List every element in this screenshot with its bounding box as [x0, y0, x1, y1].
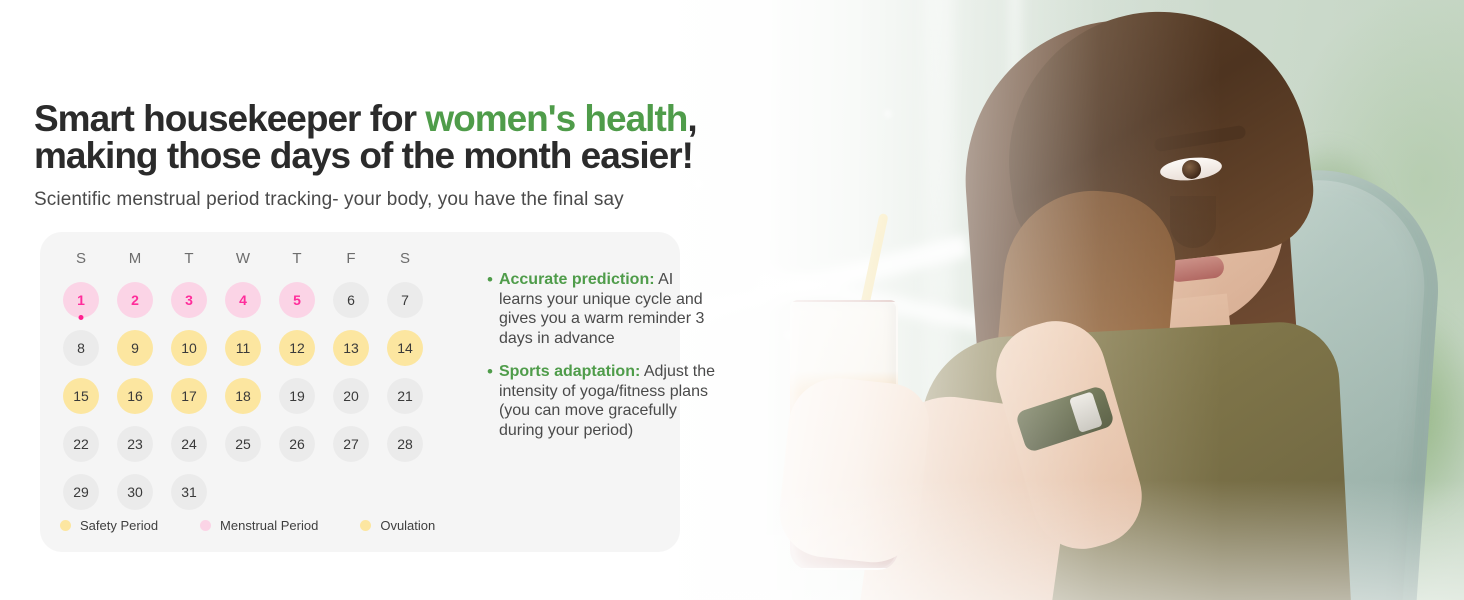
calendar-day-7[interactable]: 7 — [378, 277, 432, 323]
calendar-day-31[interactable]: 31 — [162, 469, 216, 515]
calendar-day-11[interactable]: 11 — [216, 325, 270, 371]
calendar-day-13[interactable]: 13 — [324, 325, 378, 371]
calendar-day-12[interactable]: 12 — [270, 325, 324, 371]
calendar-legend: Safety Period Menstrual Period Ovulation — [60, 518, 477, 533]
subheadline: Scientific menstrual period tracking- yo… — [34, 189, 624, 211]
calendar-day-pill: 18 — [225, 378, 261, 414]
calendar-day-17[interactable]: 17 — [162, 373, 216, 419]
weekday-2: T — [162, 244, 216, 277]
feature-title: Sports adaptation: — [499, 363, 640, 380]
calendar-day-pill: 28 — [387, 426, 423, 462]
feature-list: • Accurate prediction: AI learns your un… — [487, 270, 717, 454]
calendar-day-pill: 26 — [279, 426, 315, 462]
calendar-day-pill: 10 — [171, 330, 207, 366]
calendar-weekday-header: S M T W T F S — [54, 244, 446, 277]
calendar-day-pill: 14 — [387, 330, 423, 366]
calendar-day-pill — [333, 474, 369, 510]
calendar-day-16[interactable]: 16 — [108, 373, 162, 419]
calendar-day-21[interactable]: 21 — [378, 373, 432, 419]
calendar-day-25[interactable]: 25 — [216, 421, 270, 467]
calendar-day-10[interactable]: 10 — [162, 325, 216, 371]
calendar-day-2[interactable]: 2 — [108, 277, 162, 323]
feature-accurate-prediction: • Accurate prediction: AI learns your un… — [487, 270, 717, 348]
calendar-day-27[interactable]: 27 — [324, 421, 378, 467]
calendar-day-28[interactable]: 28 — [378, 421, 432, 467]
calendar-week-row: 891011121314 — [54, 325, 446, 371]
calendar-day-15[interactable]: 15 — [54, 373, 108, 419]
calendar-day-empty — [216, 469, 270, 515]
calendar-day-empty — [378, 469, 432, 515]
calendar-day-18[interactable]: 18 — [216, 373, 270, 419]
calendar-week-row: 293031 — [54, 469, 446, 515]
calendar-day-20[interactable]: 20 — [324, 373, 378, 419]
feature-title: Accurate prediction: — [499, 271, 655, 288]
calendar-day-pill: 8 — [63, 330, 99, 366]
calendar-day-26[interactable]: 26 — [270, 421, 324, 467]
legend-dot-safety — [60, 520, 71, 531]
calendar-day-pill: 21 — [387, 378, 423, 414]
weekday-4: T — [270, 244, 324, 277]
legend-item-menstrual: Menstrual Period — [200, 518, 318, 533]
calendar-day-4[interactable]: 4 — [216, 277, 270, 323]
calendar-day-pill: 3 — [171, 282, 207, 318]
calendar-day-pill: 17 — [171, 378, 207, 414]
calendar-day-9[interactable]: 9 — [108, 325, 162, 371]
calendar-day-pill: 29 — [63, 474, 99, 510]
calendar-day-empty — [324, 469, 378, 515]
calendar-day-pill: 1 — [63, 282, 99, 318]
calendar-day-pill: 20 — [333, 378, 369, 414]
calendar-grid: S M T W T F S 12345678910111213141516171… — [54, 244, 446, 517]
headline-part1: Smart housekeeper for — [34, 98, 425, 139]
today-marker-dot — [79, 315, 84, 320]
calendar-day-pill — [387, 474, 423, 510]
headline-part2: , — [687, 98, 696, 139]
legend-item-ovulation: Ovulation — [360, 518, 435, 533]
headline: Smart housekeeper for women's health,mak… — [34, 100, 754, 174]
calendar-day-pill: 5 — [279, 282, 315, 318]
calendar-day-19[interactable]: 19 — [270, 373, 324, 419]
calendar-day-22[interactable]: 22 — [54, 421, 108, 467]
legend-label-safety: Safety Period — [80, 518, 158, 533]
feature-text: Accurate prediction: AI learns your uniq… — [499, 270, 717, 348]
calendar-day-empty — [270, 469, 324, 515]
calendar-day-pill: 11 — [225, 330, 261, 366]
calendar-day-5[interactable]: 5 — [270, 277, 324, 323]
headline-accent: women's health — [425, 98, 687, 139]
calendar-body: 1234567891011121314151617181920212223242… — [54, 277, 446, 515]
legend-dot-ovulation — [360, 520, 371, 531]
bullet-icon: • — [487, 362, 493, 440]
headline-line2: making those days of the month easier! — [34, 135, 693, 176]
legend-item-safety: Safety Period — [60, 518, 158, 533]
calendar-week-row: 15161718192021 — [54, 373, 446, 419]
calendar-day-23[interactable]: 23 — [108, 421, 162, 467]
calendar-week-row: 22232425262728 — [54, 421, 446, 467]
weekday-3: W — [216, 244, 270, 277]
weekday-0: S — [54, 244, 108, 277]
calendar-day-pill: 22 — [63, 426, 99, 462]
calendar-day-pill: 31 — [171, 474, 207, 510]
bullet-icon: • — [487, 270, 493, 348]
feature-text: Sports adaptation: Adjust the intensity … — [499, 362, 717, 440]
calendar-day-pill: 4 — [225, 282, 261, 318]
calendar-day-30[interactable]: 30 — [108, 469, 162, 515]
calendar-day-24[interactable]: 24 — [162, 421, 216, 467]
weekday-1: M — [108, 244, 162, 277]
calendar-day-1[interactable]: 1 — [54, 277, 108, 323]
calendar-day-pill: 30 — [117, 474, 153, 510]
feature-sports-adaptation: • Sports adaptation: Adjust the intensit… — [487, 362, 717, 440]
calendar-day-pill — [279, 474, 315, 510]
legend-label-ovulation: Ovulation — [380, 518, 435, 533]
promo-banner: Smart housekeeper for women's health,mak… — [0, 0, 1464, 600]
calendar-card: S M T W T F S 12345678910111213141516171… — [40, 232, 680, 552]
calendar-day-pill: 27 — [333, 426, 369, 462]
legend-label-menstrual: Menstrual Period — [220, 518, 318, 533]
calendar-day-29[interactable]: 29 — [54, 469, 108, 515]
calendar-day-pill: 15 — [63, 378, 99, 414]
calendar-day-8[interactable]: 8 — [54, 325, 108, 371]
calendar-day-pill: 19 — [279, 378, 315, 414]
weekday-6: S — [378, 244, 432, 277]
legend-dot-menstrual — [200, 520, 211, 531]
calendar-day-14[interactable]: 14 — [378, 325, 432, 371]
calendar-day-pill: 7 — [387, 282, 423, 318]
calendar-day-pill: 2 — [117, 282, 153, 318]
banner-content: Smart housekeeper for women's health,mak… — [0, 0, 1464, 600]
calendar-day-pill: 13 — [333, 330, 369, 366]
calendar-day-3[interactable]: 3 — [162, 277, 216, 323]
calendar-day-pill: 12 — [279, 330, 315, 366]
calendar-day-pill — [225, 474, 261, 510]
weekday-5: F — [324, 244, 378, 277]
calendar-week-row: 1234567 — [54, 277, 446, 323]
calendar-day-pill: 24 — [171, 426, 207, 462]
calendar-day-pill: 6 — [333, 282, 369, 318]
calendar-day-6[interactable]: 6 — [324, 277, 378, 323]
calendar-day-pill: 9 — [117, 330, 153, 366]
calendar-day-pill: 16 — [117, 378, 153, 414]
calendar-day-pill: 23 — [117, 426, 153, 462]
calendar-day-pill: 25 — [225, 426, 261, 462]
